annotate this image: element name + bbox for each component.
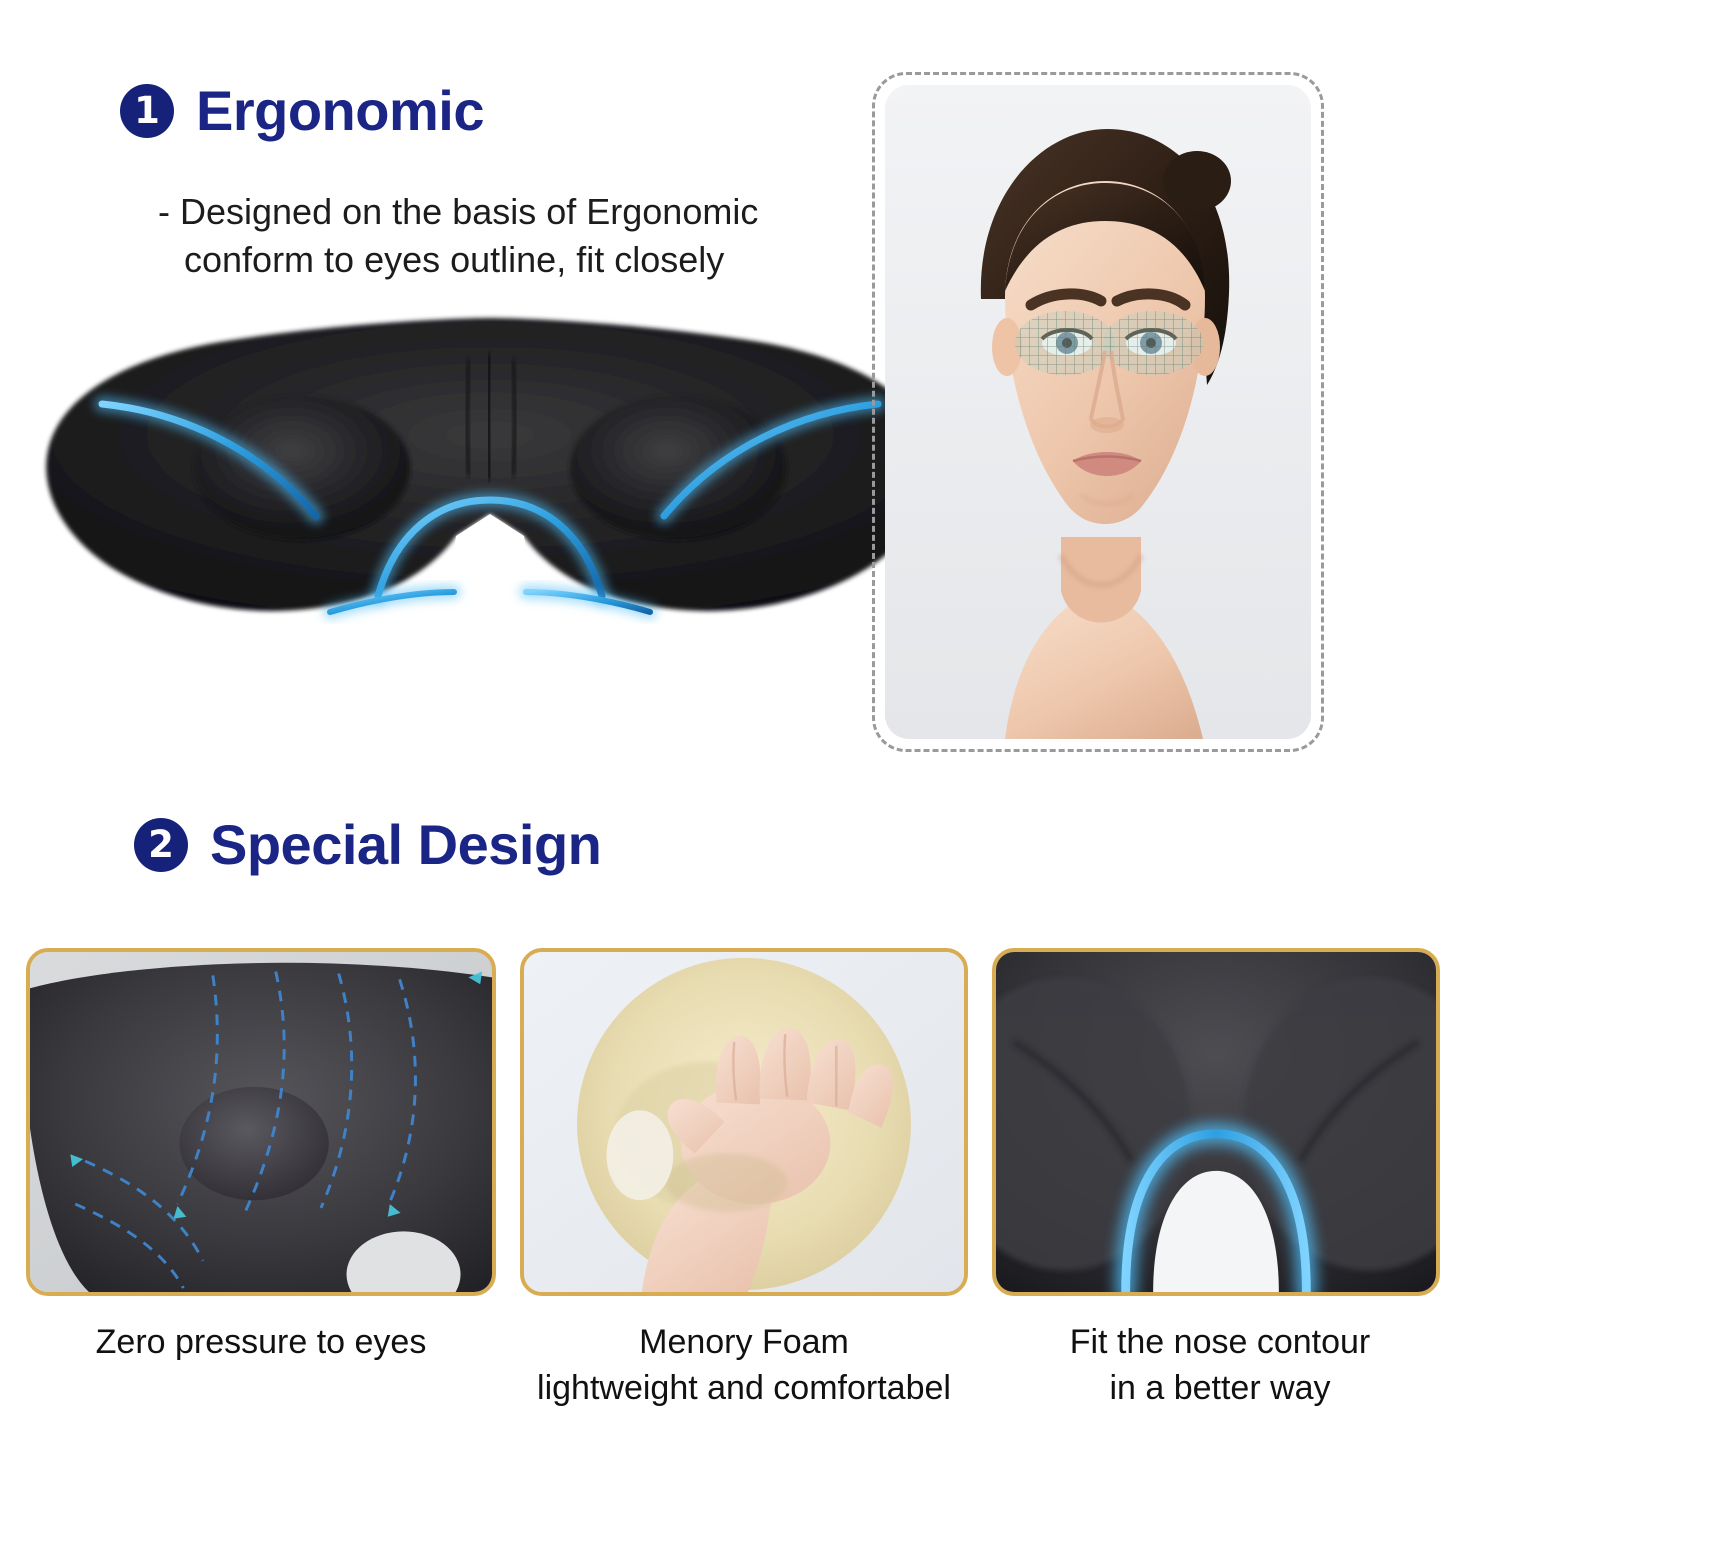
panel-memory-foam [520, 948, 968, 1296]
step-number-badge-2: 2 [134, 818, 188, 872]
ergonomic-description: - Designed on the basis of Ergonomic con… [158, 188, 758, 284]
caption-nose-contour-line-2: in a better way [1000, 1366, 1440, 1412]
infographic-page: 1 Ergonomic - Designed on the basis of E… [0, 0, 1714, 1548]
section-title-special-design: Special Design [210, 812, 601, 877]
ergonomic-description-line-1: - Designed on the basis of Ergonomic [158, 188, 758, 236]
ergonomic-description-line-2: conform to eyes outline, fit closely [158, 236, 758, 284]
caption-zero-pressure: Zero pressure to eyes [26, 1320, 496, 1366]
panel-nose-contour [992, 948, 1440, 1296]
caption-nose-contour-line-1: Fit the nose contour [1000, 1320, 1440, 1366]
caption-memory-foam-line-2: lightweight and comfortabel [496, 1366, 992, 1412]
section-heading-ergonomic: 1 Ergonomic [120, 78, 484, 143]
eye-mask-product-photo [30, 300, 950, 640]
caption-memory-foam-line-1: Menory Foam [496, 1320, 992, 1366]
caption-zero-pressure-line-1: Zero pressure to eyes [26, 1320, 496, 1366]
section-heading-special-design: 2 Special Design [134, 812, 601, 877]
caption-memory-foam: Menory Foam lightweight and comfortabel [496, 1320, 992, 1412]
caption-nose-contour: Fit the nose contour in a better way [1000, 1320, 1440, 1412]
panel-zero-pressure [26, 948, 496, 1296]
section-title-ergonomic: Ergonomic [196, 78, 484, 143]
model-photo-frame [872, 72, 1324, 752]
model-photo [885, 85, 1311, 739]
step-number-badge-1: 1 [120, 84, 174, 138]
